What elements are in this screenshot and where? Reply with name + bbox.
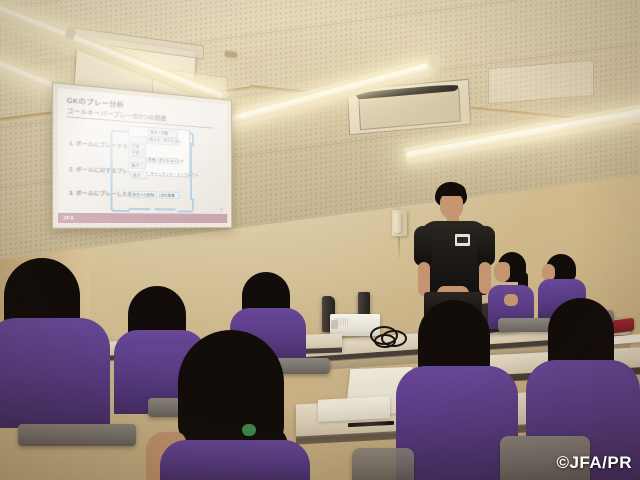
instructor-badge-mark [457,237,468,243]
slide-item-2: 2. ボールに対するプレー [69,165,133,175]
copyright-watermark: ©JFA/PR [556,453,632,473]
detail-row-6: 集中 [132,163,139,169]
detail-row-1: 見る・判断 [150,130,168,137]
chair-back-mid [498,318,552,332]
wall-phone-cord [398,236,400,262]
student-face [494,262,510,282]
instructor-sleeve-right [477,226,495,266]
wall-phone-handset [394,212,401,233]
detail-row-3: 守備 [132,143,139,149]
hair-tie [242,424,256,436]
flow-arrow-bottom-left [110,197,129,213]
flow-arrow-bottom-1 [128,208,150,211]
projection-screen: GKのプレー分析 ゴールキーパープレーの3つの局面 1. ボールにプレーする前 … [52,82,232,229]
instructor-sleeve-left [414,226,432,266]
slide-tag-1: キャッチング・ディフレクト [150,172,198,179]
open-notebook-page-left [318,396,390,422]
slide-page-number: 3 [221,208,223,212]
flow-arrow-bottom-right [178,198,194,213]
flow-arrow-right-up [190,142,192,200]
projector-lens [331,320,338,329]
flow-arrow-left-corner [110,130,128,146]
instructor-arm-left [418,262,430,296]
detail-label-left: 受け [133,172,140,178]
presentation-slide: GKのプレー分析 ゴールキーパープレーの3つの局面 1. ボールにプレーする前 … [58,88,227,223]
slide-tag-3: 次の準備 [160,192,174,198]
flow-arrow-bottom-2 [155,208,176,211]
chair-foreground-center [352,448,414,480]
jfa-logo: JFA [63,215,74,221]
cable-coil-3 [374,334,396,348]
student-shirt [160,440,310,480]
detail-row-4: 予測 [132,150,139,156]
classroom-photo: GKのプレー分析 ゴールキーパープレーの3つの局面 1. ボールにプレーする前 … [0,0,640,480]
chair-left-1 [18,424,136,446]
instructor-fringe [437,184,466,196]
student-shirt [0,318,110,428]
slide-tag-2: 味方への配球 [132,191,154,197]
student-hands [504,294,518,306]
slide-footer-bar: JFA [58,213,227,223]
